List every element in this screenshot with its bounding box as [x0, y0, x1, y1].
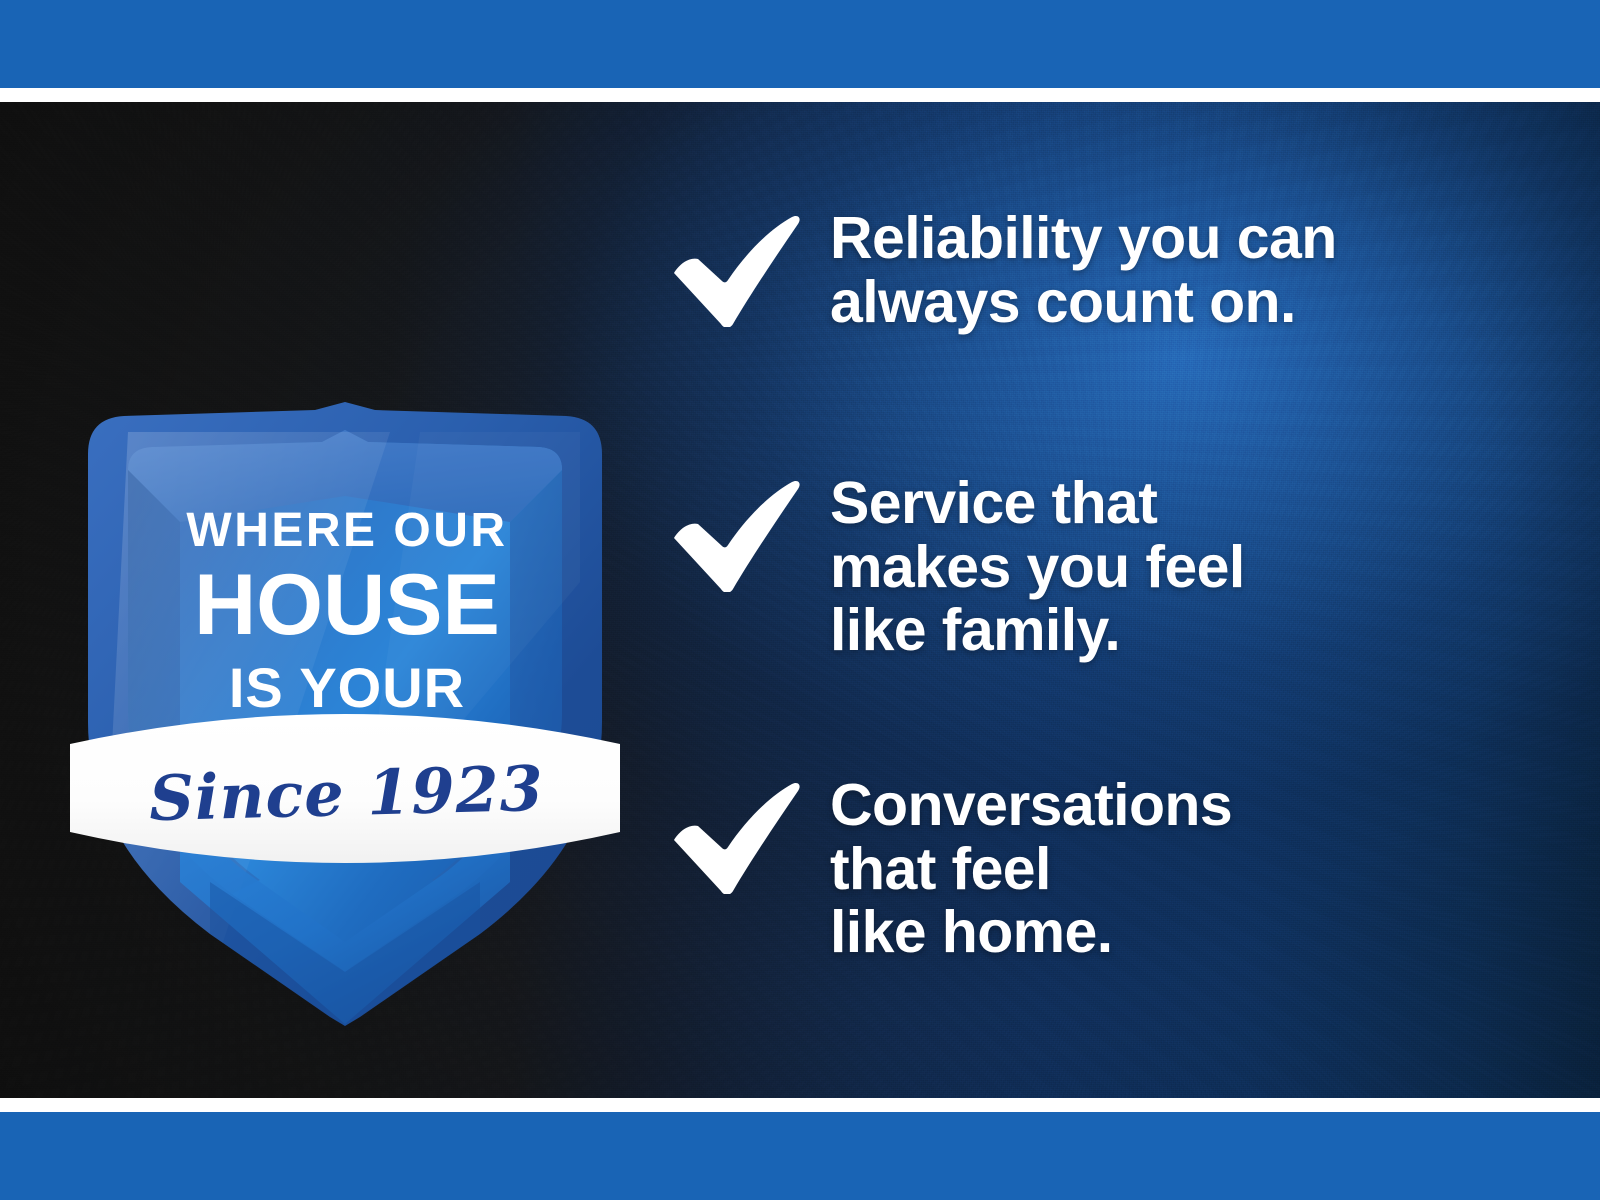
benefit-item-2: Service that makes you feel like family.	[670, 472, 1550, 663]
shield-logo: WHERE OUR HOUSE IS YOUR HOUSE Since 1923	[60, 282, 630, 1022]
benefit-item-3: Conversations that feel like home.	[670, 774, 1550, 965]
promo-graphic: WHERE OUR HOUSE IS YOUR HOUSE Since 1923	[0, 0, 1600, 1200]
top-brand-bar	[0, 0, 1600, 88]
bottom-brand-bar	[0, 1112, 1600, 1200]
shield-ribbon: Since 1923	[70, 714, 620, 863]
shield-line-0: WHERE OUR	[186, 504, 507, 557]
top-white-divider	[0, 88, 1600, 102]
shield-line-1: HOUSE	[194, 557, 500, 653]
checkmark-icon	[670, 774, 830, 894]
bottom-white-divider	[0, 1098, 1600, 1112]
benefit-item-1: Reliability you can always count on.	[670, 207, 1550, 334]
benefits-list: Reliability you can always count on. Ser…	[670, 102, 1550, 1098]
checkmark-icon	[670, 207, 830, 327]
shield-line-2: IS YOUR	[229, 656, 465, 719]
ribbon-label: Since 1923	[148, 752, 545, 835]
main-canvas: WHERE OUR HOUSE IS YOUR HOUSE Since 1923	[0, 102, 1600, 1098]
benefit-text-3: Conversations that feel like home.	[830, 774, 1550, 965]
benefit-text-1: Reliability you can always count on.	[830, 207, 1550, 334]
benefit-text-2: Service that makes you feel like family.	[830, 472, 1550, 663]
checkmark-icon	[670, 472, 830, 592]
